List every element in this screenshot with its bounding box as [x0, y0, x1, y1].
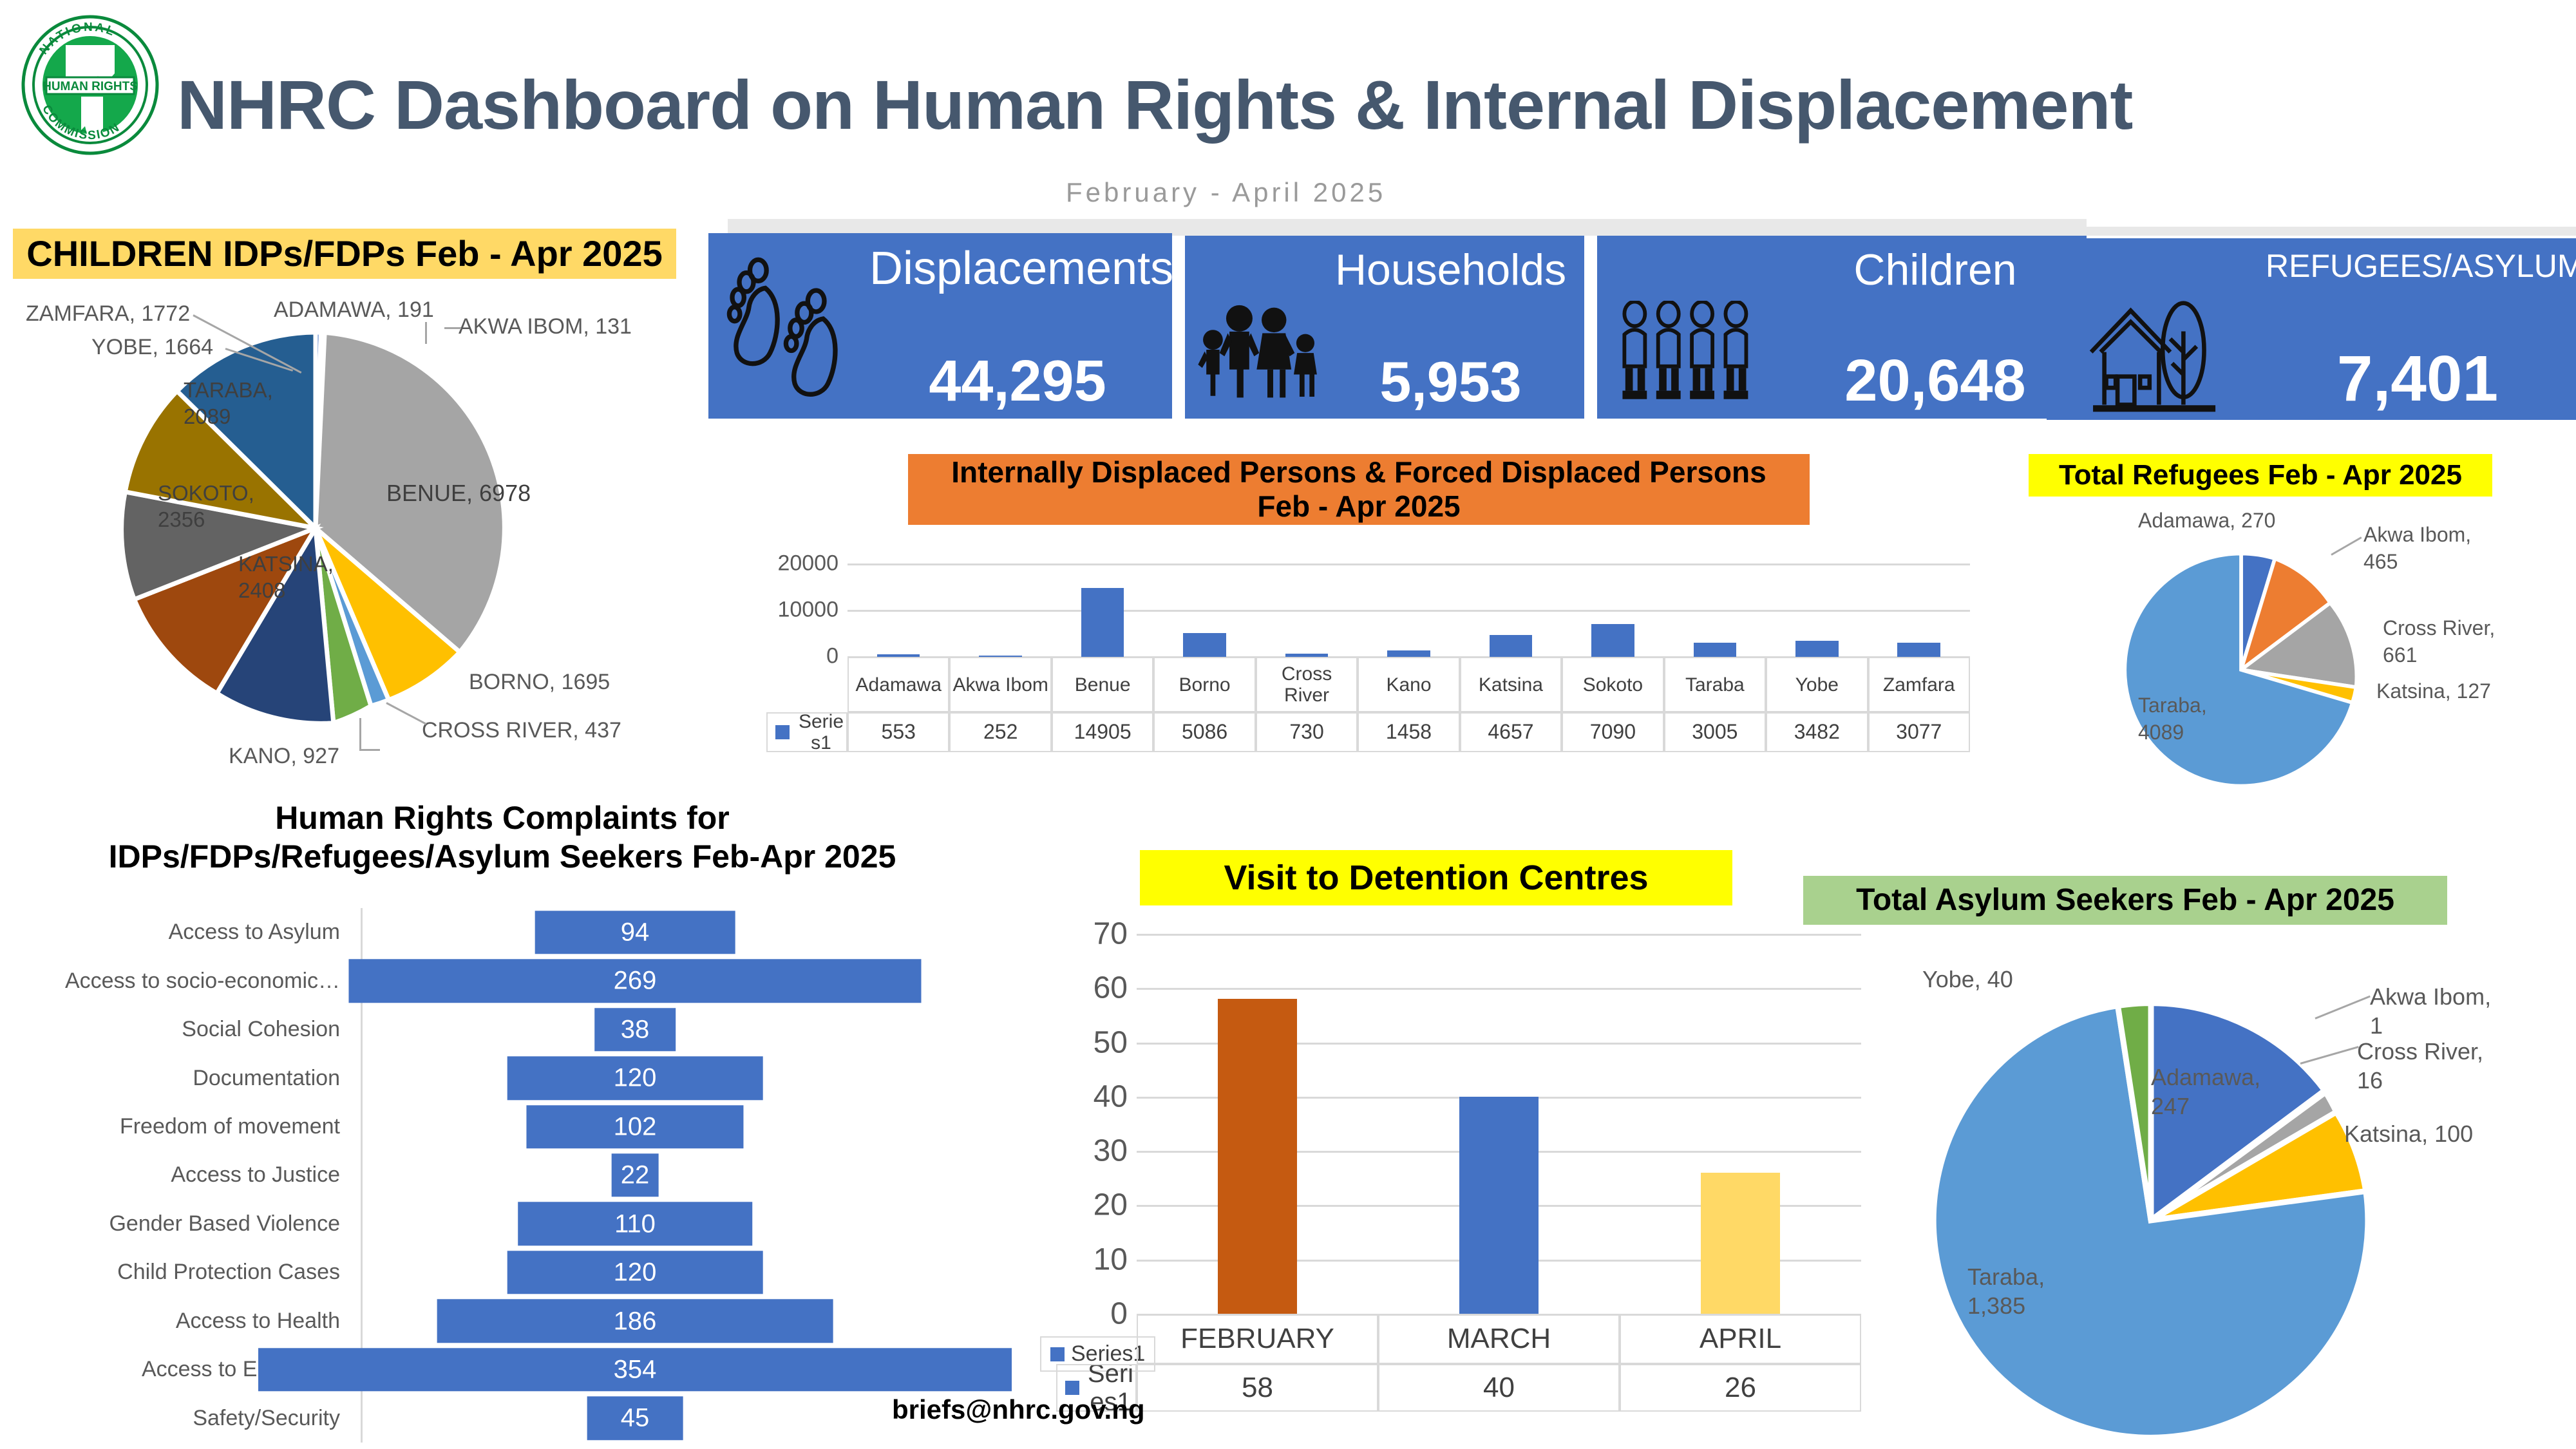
legend-swatch: [1065, 1381, 1079, 1395]
kpi-value: 20,648: [1790, 347, 2080, 415]
ytick-10: 10: [1094, 1242, 1137, 1277]
kpi-card-displacements[interactable]: Displacements 44,295: [708, 233, 1172, 419]
gridline: [1137, 988, 1861, 990]
bar-sokoto: [1591, 624, 1634, 657]
bar-zamfara: [1897, 643, 1940, 657]
refugees-pie-chart: [2112, 547, 2370, 792]
table-value-cell: 58: [1137, 1364, 1378, 1412]
complaint-bar: 186: [437, 1300, 833, 1343]
idp-chart-title: Internally Displaced Persons & Forced Di…: [908, 454, 1810, 525]
complaint-row: Safety/Security45: [13, 1394, 1043, 1443]
bar-borno: [1183, 633, 1226, 657]
asylum-pie-label-adamawa: Adamawa,247: [2151, 1063, 2260, 1121]
table-value-cell: 3005: [1664, 712, 1766, 752]
house-tree-icon: [2047, 238, 2266, 420]
gridline: [848, 610, 1970, 612]
complaint-track: 354: [354, 1345, 1043, 1394]
children-pie-label-yobe: YOBE, 1664: [91, 335, 213, 360]
legend-label: Series1: [796, 712, 846, 752]
complaints-title-line1: Human Rights Complaints for: [275, 800, 730, 836]
children-pie-label-crossriver: CROSS RIVER, 437: [422, 718, 621, 743]
detention-chart: 010203040506070 FEBRUARYMARCHAPRIL584026…: [1056, 927, 1861, 1417]
complaint-row: Documentation120: [13, 1054, 1043, 1102]
complaint-bar: 22: [612, 1153, 659, 1197]
complaint-track: 102: [354, 1103, 1043, 1151]
table-header-cell: Kano: [1358, 657, 1459, 712]
table-legend-cell: Series1: [766, 712, 848, 752]
kpi-value: 5,953: [1323, 349, 1578, 415]
children-pie-label-kano: KANO, 927: [229, 744, 339, 769]
complaint-label: Safety/Security: [13, 1406, 354, 1431]
table-value-cell: 3077: [1868, 712, 1970, 752]
idp-title-line2: Feb - Apr 2025: [1257, 489, 1460, 524]
legend-swatch: [775, 725, 790, 739]
kpi-strip-shadow-right: [2087, 227, 2576, 236]
complaint-label: Freedom of movement: [13, 1114, 354, 1139]
table-value-cell: 7090: [1562, 712, 1663, 752]
idp-data-table: AdamawaAkwa IbomBenueBornoCross RiverKan…: [848, 657, 1970, 752]
table-header-cell: Katsina: [1460, 657, 1562, 712]
complaint-bar: 269: [348, 959, 921, 1002]
complaint-row: Access to Education354: [13, 1345, 1043, 1394]
kpi-card-children[interactable]: Children 20,648: [1597, 236, 2087, 419]
table-header-cell: MARCH: [1378, 1314, 1620, 1364]
complaints-chart: Access to Asylum94Access to socio-econom…: [13, 908, 1043, 1443]
refugees-pie-label-akwaibom: Akwa Ibom,465: [2363, 522, 2471, 575]
complaint-row: Access to Justice22: [13, 1151, 1043, 1199]
complaint-bar: 120: [507, 1056, 763, 1099]
bar-february: [1218, 999, 1298, 1314]
complaint-track: 38: [354, 1005, 1043, 1054]
complaint-row: Access to Health186: [13, 1297, 1043, 1345]
kpi-label: Households: [1323, 245, 1578, 295]
table-header-cell: Akwa Ibom: [949, 657, 1051, 712]
complaint-bar: 110: [518, 1202, 752, 1245]
complaint-track: 269: [354, 956, 1043, 1005]
children-pie-label-borno: BORNO, 1695: [469, 670, 610, 695]
complaint-bar: 102: [526, 1105, 743, 1148]
refugees-pie-title: Total Refugees Feb - Apr 2025: [2029, 454, 2492, 497]
asylum-pie-title: Total Asylum Seekers Feb - Apr 2025: [1803, 876, 2447, 925]
table-value-cell: 252: [949, 712, 1051, 752]
complaints-title: Human Rights Complaints for IDPs/FDPs/Re…: [26, 799, 979, 876]
children-pie-label-akwaibom: AKWA IBOM, 131: [459, 314, 632, 339]
bar-april: [1701, 1173, 1781, 1314]
table-value-cell: 26: [1620, 1364, 1861, 1412]
table-header-cell: Zamfara: [1868, 657, 1970, 712]
children-pie-title: CHILDREN IDPs/FDPs Feb - Apr 2025: [13, 229, 676, 279]
table-row-categories: AdamawaAkwa IbomBenueBornoCross RiverKan…: [848, 657, 1970, 712]
table-value-cell: 14905: [1052, 712, 1153, 752]
ytick-20: 20: [1094, 1188, 1137, 1223]
table-value-cell: 5086: [1153, 712, 1255, 752]
table-header-cell: FEBRUARY: [1137, 1314, 1378, 1364]
leader-line: [425, 322, 427, 344]
ytick-20000: 20000: [777, 551, 848, 576]
asylum-pie-label-crossriver: Cross River,16: [2357, 1037, 2483, 1095]
refugees-pie-label-adamawa: Adamawa, 270: [2138, 509, 2275, 533]
children-pie-label-benue: BENUE, 6978: [386, 480, 531, 506]
complaint-label: Gender Based Violence: [13, 1211, 354, 1236]
complaints-title-line2: IDPs/FDPs/Refugees/Asylum Seekers Feb-Ap…: [109, 838, 896, 875]
ytick-30: 30: [1094, 1133, 1137, 1169]
complaint-bar: 38: [594, 1008, 676, 1051]
detention-plot-area: 010203040506070: [1137, 934, 1861, 1314]
logo-center-text: HUMAN RIGHTS: [43, 80, 138, 93]
complaint-track: 94: [354, 908, 1043, 956]
leader-line: [444, 327, 461, 329]
ytick-0: 0: [826, 644, 848, 669]
ytick-50: 50: [1094, 1025, 1137, 1060]
complaint-bar: 94: [535, 911, 735, 954]
kpi-label: Displacements: [869, 242, 1166, 295]
complaint-track: 120: [354, 1054, 1043, 1102]
ytick-60: 60: [1094, 971, 1137, 1006]
table-header-cell: Cross River: [1256, 657, 1358, 712]
refugees-pie-svg: [2112, 547, 2370, 792]
children-pie-label-zamfara: ZAMFARA, 1772: [26, 301, 190, 327]
asylum-pie-label-akwaibom: Akwa Ibom,1: [2370, 982, 2491, 1040]
table-header-cell: Sokoto: [1562, 657, 1663, 712]
asylum-pie-label-yobe: Yobe, 40: [1922, 966, 2013, 992]
table-header-cell: Benue: [1052, 657, 1153, 712]
refugees-pie-label-katsina: Katsina, 127: [2376, 679, 2491, 703]
table-value-cell: 40: [1378, 1364, 1620, 1412]
ytick-70: 70: [1094, 916, 1137, 952]
complaint-bar: 45: [587, 1397, 683, 1440]
leader-line: [359, 749, 380, 751]
table-value-cell: 4657: [1460, 712, 1562, 752]
complaint-label: Social Cohesion: [13, 1017, 354, 1042]
children-pie-label-katsina: KATSINA,2408: [238, 551, 334, 604]
complaint-label: Access to Health: [13, 1309, 354, 1334]
complaint-track: 186: [354, 1297, 1043, 1345]
complaint-track: 120: [354, 1248, 1043, 1296]
page-title: NHRC Dashboard on Human Rights & Interna…: [177, 64, 2132, 145]
page-subtitle: February - April 2025: [1066, 177, 1386, 208]
table-value-cell: 1458: [1358, 712, 1459, 752]
refugees-pie-label-crossriver: Cross River,661: [2383, 615, 2495, 668]
ytick-40: 40: [1094, 1079, 1137, 1114]
table-row-categories: FEBRUARYMARCHAPRIL: [1137, 1314, 1861, 1364]
bar-kano: [1387, 650, 1430, 657]
kpi-card-refugees[interactable]: REFUGEES/ASYLUM SEEKERS 7,401: [2047, 238, 2576, 420]
leader-line: [359, 718, 361, 750]
complaint-row: Access to Asylum94: [13, 908, 1043, 956]
children-pie-label-taraba: TARABA,2089: [184, 377, 273, 430]
detention-data-table: FEBRUARYMARCHAPRIL584026Series1: [1137, 1314, 1861, 1412]
bar-march: [1459, 1097, 1539, 1314]
children-icon: [1597, 236, 1790, 419]
bar-taraba: [1694, 643, 1737, 657]
complaint-row: Access to socio-economic…269: [13, 956, 1043, 1005]
complaint-label: Child Protection Cases: [13, 1260, 354, 1285]
ytick-10000: 10000: [777, 598, 848, 623]
complaint-bar: 354: [258, 1348, 1012, 1391]
detention-title: Visit to Detention Centres: [1140, 850, 1732, 905]
kpi-label: Children: [1790, 245, 2080, 295]
asylum-pie-svg: [1916, 992, 2386, 1449]
complaint-label: Access to socio-economic…: [13, 969, 354, 994]
idp-plot-area: 20000 10000 0: [848, 563, 1970, 657]
complaint-track: 22: [354, 1151, 1043, 1199]
footprints-icon: [708, 233, 869, 419]
table-row-values: 584026: [1137, 1364, 1861, 1412]
kpi-card-households[interactable]: Households 5,953: [1185, 236, 1584, 419]
gridline: [848, 563, 1970, 565]
table-header-cell: Borno: [1153, 657, 1255, 712]
bar-benue: [1081, 588, 1124, 657]
asylum-pie-label-katsina: Katsina, 100: [2344, 1121, 2473, 1147]
kpi-value: 44,295: [869, 348, 1166, 415]
complaint-bar: 120: [507, 1251, 763, 1294]
complaint-track: 110: [354, 1200, 1043, 1248]
complaint-row: Child Protection Cases120: [13, 1248, 1043, 1296]
table-header-cell: Adamawa: [848, 657, 949, 712]
table-header-cell: Taraba: [1664, 657, 1766, 712]
table-value-cell: 553: [848, 712, 949, 752]
complaint-label: Access to Justice: [13, 1162, 354, 1188]
ytick-0: 0: [1110, 1296, 1137, 1332]
kpi-label: REFUGEES/ASYLUM SEEKERS: [2266, 247, 2570, 285]
footer-email: briefs@nhrc.gov.ng: [892, 1394, 1145, 1425]
table-value-cell: 3482: [1766, 712, 1868, 752]
idp-chart: 20000 10000 0 AdamawaAkwa IbomBenueBorno…: [766, 557, 1971, 760]
family-icon: [1185, 236, 1323, 419]
idp-title-line1: Internally Displaced Persons & Forced Di…: [951, 455, 1766, 489]
refugees-pie-label-taraba: Taraba,4089: [2138, 692, 2207, 746]
complaint-label: Access to Asylum: [13, 920, 354, 945]
bar-yobe: [1795, 641, 1839, 657]
table-header-cell: APRIL: [1620, 1314, 1861, 1364]
table-row-values: 5532521490550867301458465770903005348230…: [848, 712, 1970, 752]
complaint-row: Gender Based Violence110: [13, 1200, 1043, 1248]
gridline: [1137, 934, 1861, 936]
asylum-pie-label-taraba: Taraba,1,385: [1967, 1262, 2045, 1320]
complaint-row: Social Cohesion38: [13, 1005, 1043, 1054]
children-pie-label-adamawa: ADAMAWA, 191: [274, 298, 434, 323]
kpi-value: 7,401: [2266, 342, 2570, 416]
table-value-cell: 730: [1256, 712, 1358, 752]
asylum-pie-chart: [1916, 992, 2386, 1449]
table-header-cell: Yobe: [1766, 657, 1868, 712]
nhrc-logo: HUMAN RIGHTS NATIONAL COMMISSION: [19, 14, 161, 156]
complaint-label: Documentation: [13, 1066, 354, 1091]
children-pie-label-sokoto: SOKOTO,2356: [158, 480, 254, 533]
complaint-row: Freedom of movement102: [13, 1103, 1043, 1151]
bar-katsina: [1490, 635, 1533, 657]
